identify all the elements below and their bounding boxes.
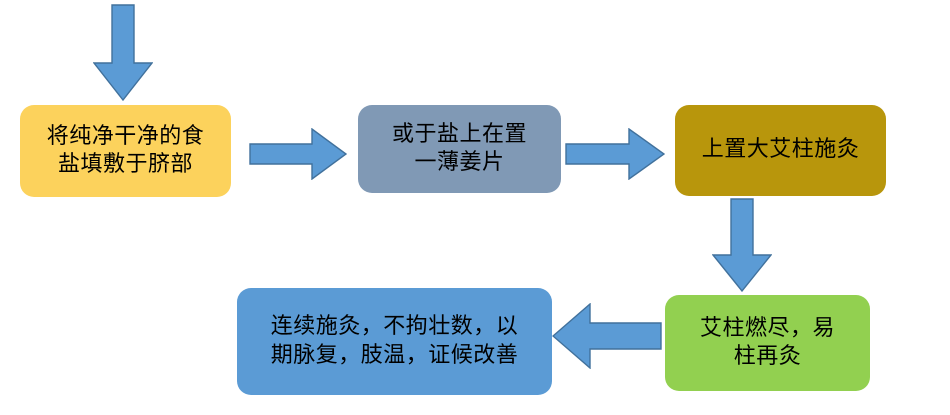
arrow-down-entry-icon	[93, 4, 153, 101]
flow-node-step-4[interactable]: 艾柱燃尽，易 柱再灸	[665, 295, 870, 391]
arrow-down-step3-step4-icon	[712, 198, 772, 292]
arrow-right-step1-step2-icon	[249, 128, 347, 180]
arrow-left-step4-step5-icon	[552, 303, 662, 369]
flow-node-step-5[interactable]: 连续施灸，不拘壮数，以 期脉复，肢温，证候改善	[237, 288, 552, 395]
flow-node-step-2[interactable]: 或于盐上在置 一薄姜片	[358, 105, 561, 193]
flow-node-step-1[interactable]: 将纯净干净的食 盐填敷于脐部	[20, 105, 231, 197]
arrow-right-step2-step3-icon	[565, 128, 665, 180]
flow-node-step-3[interactable]: 上置大艾柱施灸	[675, 105, 886, 196]
flowchart-canvas: 将纯净干净的食 盐填敷于脐部 或于盐上在置 一薄姜片 上置大艾柱施灸 艾柱燃尽，…	[0, 0, 950, 415]
